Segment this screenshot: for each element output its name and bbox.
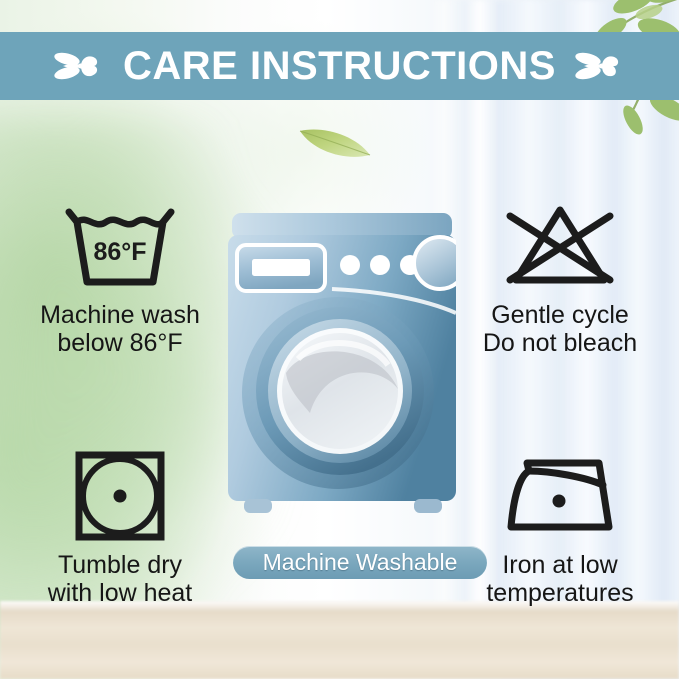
caption-line-2: below 86°F	[20, 330, 220, 358]
care-symbol-caption: Gentle cycle Do not bleach	[460, 302, 660, 357]
caption-line-2: temperatures	[460, 580, 660, 608]
care-symbol-tumble-dry: Tumble dry with low heat	[20, 446, 220, 607]
machine-washable-badge: Machine Washable	[233, 546, 487, 579]
crossed-triangle-icon	[496, 200, 624, 292]
fleur-de-lis-icon	[572, 44, 628, 88]
care-symbol-caption: Tumble dry with low heat	[20, 552, 220, 607]
iron-heat-dot	[553, 495, 566, 508]
fleur-de-lis-icon	[51, 44, 107, 88]
caption-line-1: Gentle cycle	[460, 302, 660, 330]
care-symbol-gentle-cycle-no-bleach: Gentle cycle Do not bleach	[460, 196, 660, 357]
no-bleach-symbol	[460, 196, 660, 296]
control-button[interactable]	[370, 255, 390, 275]
caption-line-2: Do not bleach	[460, 330, 660, 358]
caption-line-1: Tumble dry	[20, 552, 220, 580]
caption-line-2: with low heat	[20, 580, 220, 608]
tumble-dry-symbol	[20, 446, 220, 546]
iron-symbol	[460, 446, 660, 546]
wash-tub-symbol: 86°F	[20, 196, 220, 296]
care-instructions-infographic: CARE INSTRUCTIONS 86°F Machine wash belo…	[0, 0, 679, 679]
detergent-slot	[252, 259, 310, 276]
dryer-heat-dot	[114, 490, 127, 503]
badge-label: Machine Washable	[263, 551, 458, 574]
care-symbol-iron: Iron at low temperatures	[460, 446, 660, 607]
care-symbol-caption: Machine wash below 86°F	[20, 302, 220, 357]
caption-line-1: Machine wash	[20, 302, 220, 330]
care-symbol-caption: Iron at low temperatures	[460, 552, 660, 607]
wash-temperature-value: 86°F	[93, 238, 146, 266]
washing-machine-illustration	[228, 213, 456, 526]
machine-foot	[414, 499, 442, 513]
table-surface	[0, 601, 679, 679]
control-button[interactable]	[340, 255, 360, 275]
machine-foot	[244, 499, 272, 513]
care-symbol-machine-wash: 86°F Machine wash below 86°F	[20, 196, 220, 357]
caption-line-1: Iron at low	[460, 552, 660, 580]
iron-icon	[499, 453, 621, 539]
page-title: CARE INSTRUCTIONS	[123, 46, 556, 86]
floating-leaf-icon	[296, 122, 374, 162]
header-banner: CARE INSTRUCTIONS	[0, 32, 679, 100]
wash-tub-icon: 86°F	[61, 200, 179, 292]
program-knob[interactable]	[414, 237, 456, 289]
tumble-dry-icon	[71, 447, 169, 545]
